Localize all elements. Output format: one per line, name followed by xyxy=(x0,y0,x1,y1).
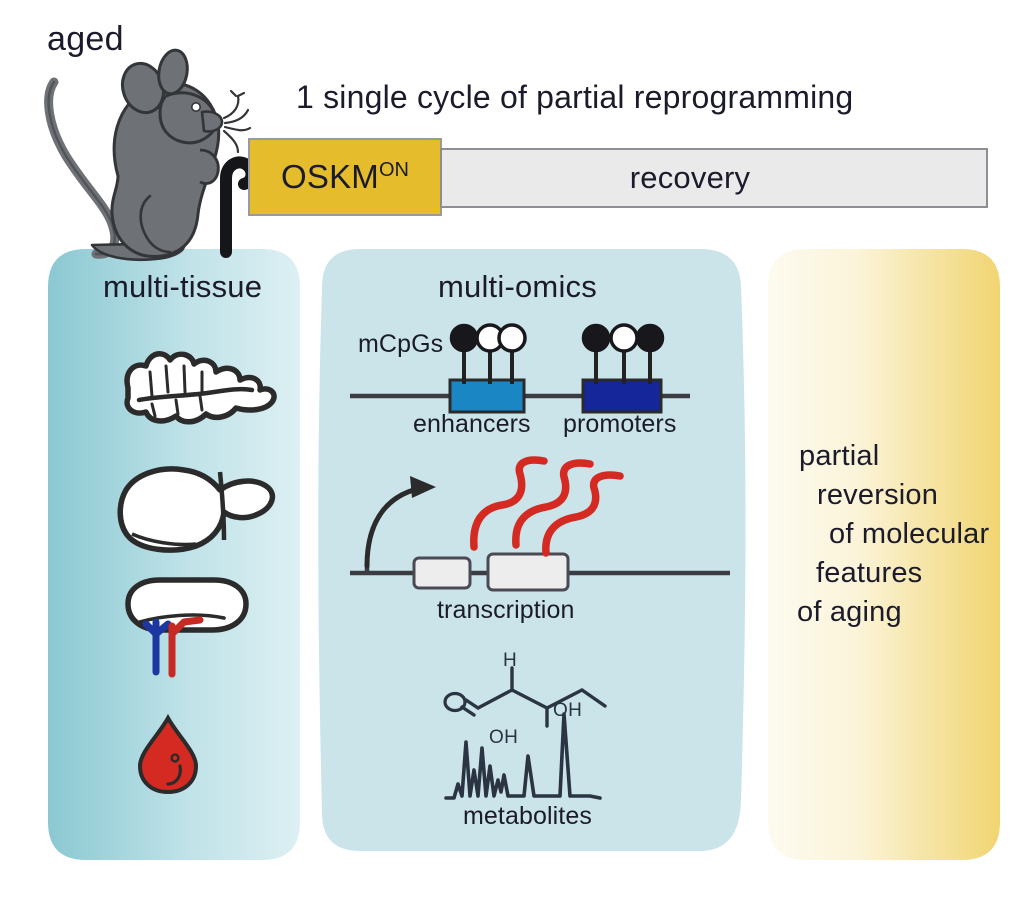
outcome-line: partial xyxy=(799,442,879,471)
aged-label: aged xyxy=(47,22,124,56)
outcome-line: reversion xyxy=(817,481,938,510)
recovery-box: recovery xyxy=(440,148,988,208)
promoter-box xyxy=(583,380,661,412)
cycle-title: 1 single cycle of partial reprogramming xyxy=(296,81,853,113)
multi-tissue-heading: multi-tissue xyxy=(103,271,262,302)
enhancer-cpg-lollipops xyxy=(451,325,525,384)
recovery-label: recovery xyxy=(630,160,750,196)
mcpgs-label: mCpGs xyxy=(358,332,443,357)
oskm-on-box: OSKMON xyxy=(248,138,442,216)
outcome-line: of aging xyxy=(797,598,902,627)
exon-box xyxy=(488,554,568,590)
oskm-superscript: ON xyxy=(379,159,409,181)
chem-label-oh-mid: OH xyxy=(489,727,518,749)
promoter-cpg-lollipops xyxy=(583,325,663,384)
multi-omics-heading: multi-omics xyxy=(438,271,597,302)
oskm-label: OSKMON xyxy=(281,158,409,196)
enhancers-label: enhancers xyxy=(413,412,531,437)
promoters-label: promoters xyxy=(563,412,676,437)
rna-transcripts xyxy=(474,460,620,553)
mass-spectrum-trace-icon xyxy=(446,714,600,798)
outcome-line: features xyxy=(816,559,922,588)
graphical-abstract: aged 1 single cycle of partial reprogram… xyxy=(0,0,1022,898)
metabolites-diagram xyxy=(445,668,605,798)
chem-label-h: H xyxy=(503,650,517,672)
transcription-diagram xyxy=(350,460,730,590)
transcription-label: transcription xyxy=(437,598,574,623)
exon-box xyxy=(414,558,470,588)
enhancer-box xyxy=(450,380,524,412)
outcome-line: of molecular xyxy=(829,520,989,549)
metabolites-label: metabolites xyxy=(463,804,592,829)
chem-label-oh-right: OH xyxy=(553,700,582,722)
